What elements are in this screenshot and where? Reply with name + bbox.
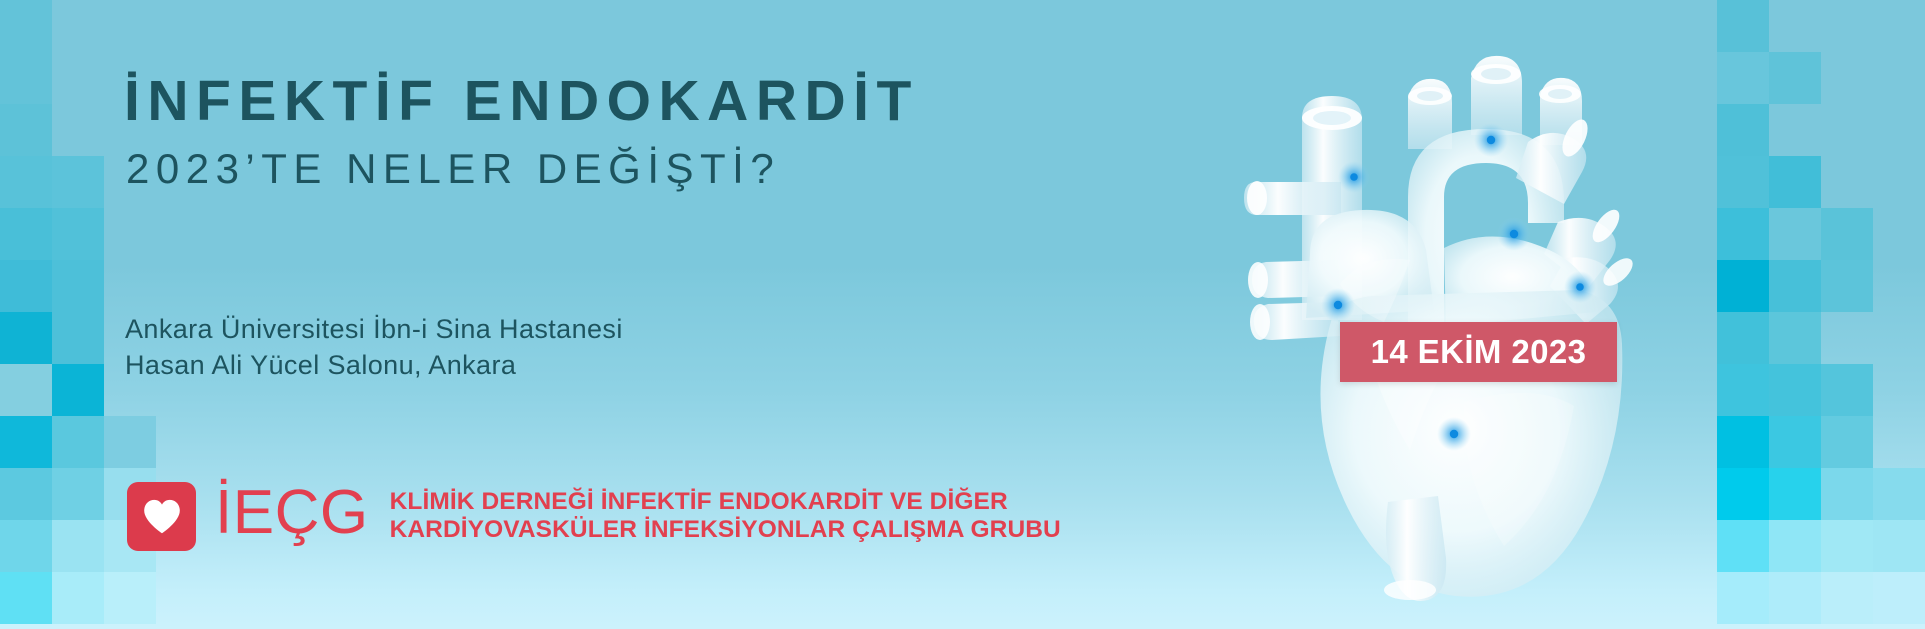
- page-title: İNFEKTİF ENDOKARDİT: [124, 72, 919, 132]
- mosaic-tile: [1769, 260, 1821, 312]
- mosaic-pattern-right: [1695, 0, 1925, 629]
- mosaic-tile: [0, 52, 52, 104]
- mosaic-tile: [1873, 520, 1925, 572]
- mosaic-tile: [52, 156, 104, 208]
- mosaic-tile: [1821, 364, 1873, 416]
- mosaic-tile: [52, 208, 104, 260]
- mosaic-tile: [1769, 364, 1821, 416]
- mosaic-tile: [1717, 156, 1769, 208]
- mosaic-tile: [1717, 468, 1769, 520]
- anatomical-heart-illustration: [1228, 22, 1668, 602]
- mosaic-tile: [1769, 208, 1821, 260]
- mosaic-tile: [0, 156, 52, 208]
- mosaic-tile: [1769, 520, 1821, 572]
- mosaic-tile: [1717, 104, 1769, 156]
- mosaic-tile: [1821, 520, 1873, 572]
- venue-line-2: Hasan Ali Yücel Salonu, Ankara: [125, 348, 623, 384]
- mosaic-tile: [52, 260, 104, 312]
- organizer-logo-lockup: İEÇG KLİMİK DERNEĞİ İNFEKTİF ENDOKARDİT …: [127, 482, 1061, 551]
- mosaic-tile: [0, 104, 52, 156]
- mosaic-tile: [52, 468, 104, 520]
- mosaic-tile: [52, 520, 104, 572]
- mosaic-tile: [0, 572, 52, 624]
- organizer-name: KLİMİK DERNEĞİ İNFEKTİF ENDOKARDİT VE Dİ…: [390, 488, 1061, 543]
- mosaic-tile: [1769, 572, 1821, 624]
- mosaic-tile: [0, 312, 52, 364]
- mosaic-tile: [1717, 52, 1769, 104]
- mosaic-tile: [1821, 260, 1873, 312]
- logo-abbreviation: İEÇG: [215, 484, 369, 543]
- mosaic-tile: [1717, 260, 1769, 312]
- mosaic-tile: [0, 364, 52, 416]
- organizer-name-line-2: KARDİYOVASKÜLER İNFEKSİYONLAR ÇALIŞMA GR…: [390, 516, 1061, 544]
- logo-mark-tile: [127, 482, 196, 551]
- mosaic-tile: [1717, 416, 1769, 468]
- mosaic-tile: [1821, 416, 1873, 468]
- mosaic-tile: [0, 208, 52, 260]
- mosaic-tile: [1717, 208, 1769, 260]
- mosaic-tile: [1769, 468, 1821, 520]
- mosaic-tile: [1717, 0, 1769, 52]
- mosaic-tile: [1821, 208, 1873, 260]
- mosaic-tile: [1769, 312, 1821, 364]
- venue-line-1: Ankara Üniversitesi İbn-i Sina Hastanesi: [125, 312, 623, 348]
- event-banner: 14 EKİM 2023 İNFEKTİF ENDOKARDİT 2023’TE…: [0, 0, 1925, 629]
- mosaic-tile: [1873, 572, 1925, 624]
- banner-content: İNFEKTİF ENDOKARDİT 2023’TE NELER DEĞİŞT…: [124, 0, 1044, 629]
- mosaic-tile: [1717, 572, 1769, 624]
- mosaic-tile: [0, 468, 52, 520]
- mosaic-tile: [52, 364, 104, 416]
- mosaic-tile: [0, 416, 52, 468]
- mosaic-tile: [1873, 468, 1925, 520]
- mosaic-tile: [1821, 572, 1873, 624]
- mosaic-tile: [1769, 416, 1821, 468]
- page-subtitle: 2023’TE NELER DEĞİŞTİ?: [126, 146, 780, 192]
- mosaic-tile: [1769, 52, 1821, 104]
- organizer-name-line-1: KLİMİK DERNEĞİ İNFEKTİF ENDOKARDİT VE Dİ…: [390, 488, 1061, 516]
- mosaic-tile: [0, 0, 52, 52]
- venue-block: Ankara Üniversitesi İbn-i Sina Hastanesi…: [125, 312, 623, 383]
- mosaic-tile: [1717, 520, 1769, 572]
- event-date-badge: 14 EKİM 2023: [1340, 322, 1617, 382]
- mosaic-tile: [1717, 312, 1769, 364]
- mosaic-tile: [0, 520, 52, 572]
- mosaic-tile: [1717, 364, 1769, 416]
- mosaic-tile: [52, 312, 104, 364]
- mosaic-tile: [1769, 156, 1821, 208]
- mosaic-tile: [52, 416, 104, 468]
- heart-icon: [143, 499, 181, 534]
- mosaic-tile: [0, 260, 52, 312]
- mosaic-tile: [1821, 468, 1873, 520]
- mosaic-tile: [52, 572, 104, 624]
